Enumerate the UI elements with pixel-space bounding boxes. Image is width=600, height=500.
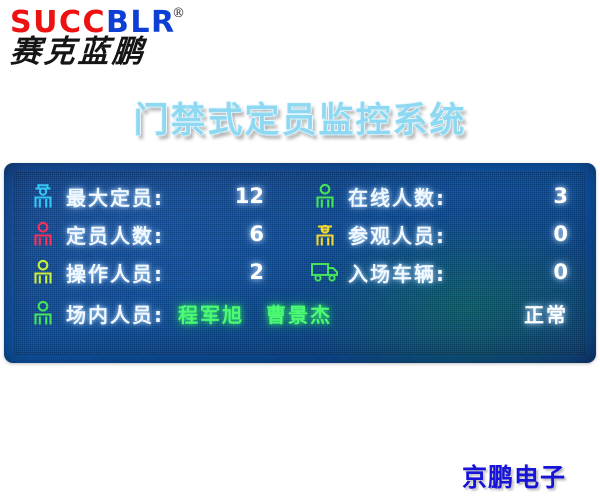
company-logo: SUCCBLR ® 赛克蓝鹏 bbox=[8, 6, 208, 76]
person-icon bbox=[26, 299, 60, 327]
led-label: 入场车辆: bbox=[348, 258, 446, 287]
led-cell-onsite-personnel: 场内人员: 程军旭 曹景杰 正常 bbox=[4, 291, 596, 335]
led-value: 0 bbox=[446, 260, 596, 284]
led-cell-operator-count: 操作人员: 2 bbox=[4, 253, 300, 291]
person-visitor-icon bbox=[308, 220, 342, 248]
person-icon bbox=[308, 182, 342, 210]
person-icon bbox=[26, 258, 60, 286]
led-row: 场内人员: 程军旭 曹景杰 正常 bbox=[4, 291, 596, 335]
led-cell-vehicle-count: 入场车辆: 0 bbox=[300, 253, 596, 291]
status-badge: 正常 bbox=[524, 299, 596, 328]
led-cell-max-capacity: 最大定员: 12 bbox=[4, 177, 300, 215]
led-display-panel: 最大定员: 12 在线人数: 3 bbox=[4, 163, 596, 363]
led-row: 定员人数: 6 参观人员: bbox=[4, 215, 596, 253]
led-label: 在线人数: bbox=[348, 182, 446, 211]
led-cell-assigned-count: 定员人数: 6 bbox=[4, 215, 300, 253]
led-label: 定员人数: bbox=[66, 220, 164, 249]
led-row: 最大定员: 12 在线人数: 3 bbox=[4, 177, 596, 215]
page-title: 门禁式定员监控系统 bbox=[0, 92, 600, 143]
person-hardhat-icon bbox=[26, 182, 60, 210]
led-value: 0 bbox=[446, 222, 596, 246]
led-rows: 最大定员: 12 在线人数: 3 bbox=[4, 177, 596, 353]
led-label: 最大定员: bbox=[66, 182, 164, 211]
led-value: 6 bbox=[164, 222, 300, 246]
person-icon bbox=[26, 220, 60, 248]
led-row: 操作人员: 2 入场车辆: 0 bbox=[4, 253, 596, 291]
logo-chinese-name: 赛克蓝鹏 bbox=[9, 37, 147, 68]
led-label: 参观人员: bbox=[348, 220, 446, 249]
led-label: 场内人员: bbox=[66, 299, 164, 328]
led-value: 2 bbox=[164, 260, 300, 284]
led-cell-visitor-count: 参观人员: 0 bbox=[300, 215, 596, 253]
onsite-personnel-names: 程军旭 曹景杰 bbox=[164, 299, 524, 328]
led-cell-online-count: 在线人数: 3 bbox=[300, 177, 596, 215]
truck-icon bbox=[308, 260, 342, 284]
registered-trademark-icon: ® bbox=[172, 6, 185, 21]
led-value: 3 bbox=[446, 184, 596, 208]
footer-brand: 京鹏电子 bbox=[462, 458, 566, 494]
led-value: 12 bbox=[164, 184, 300, 208]
led-label: 操作人员: bbox=[66, 258, 164, 287]
